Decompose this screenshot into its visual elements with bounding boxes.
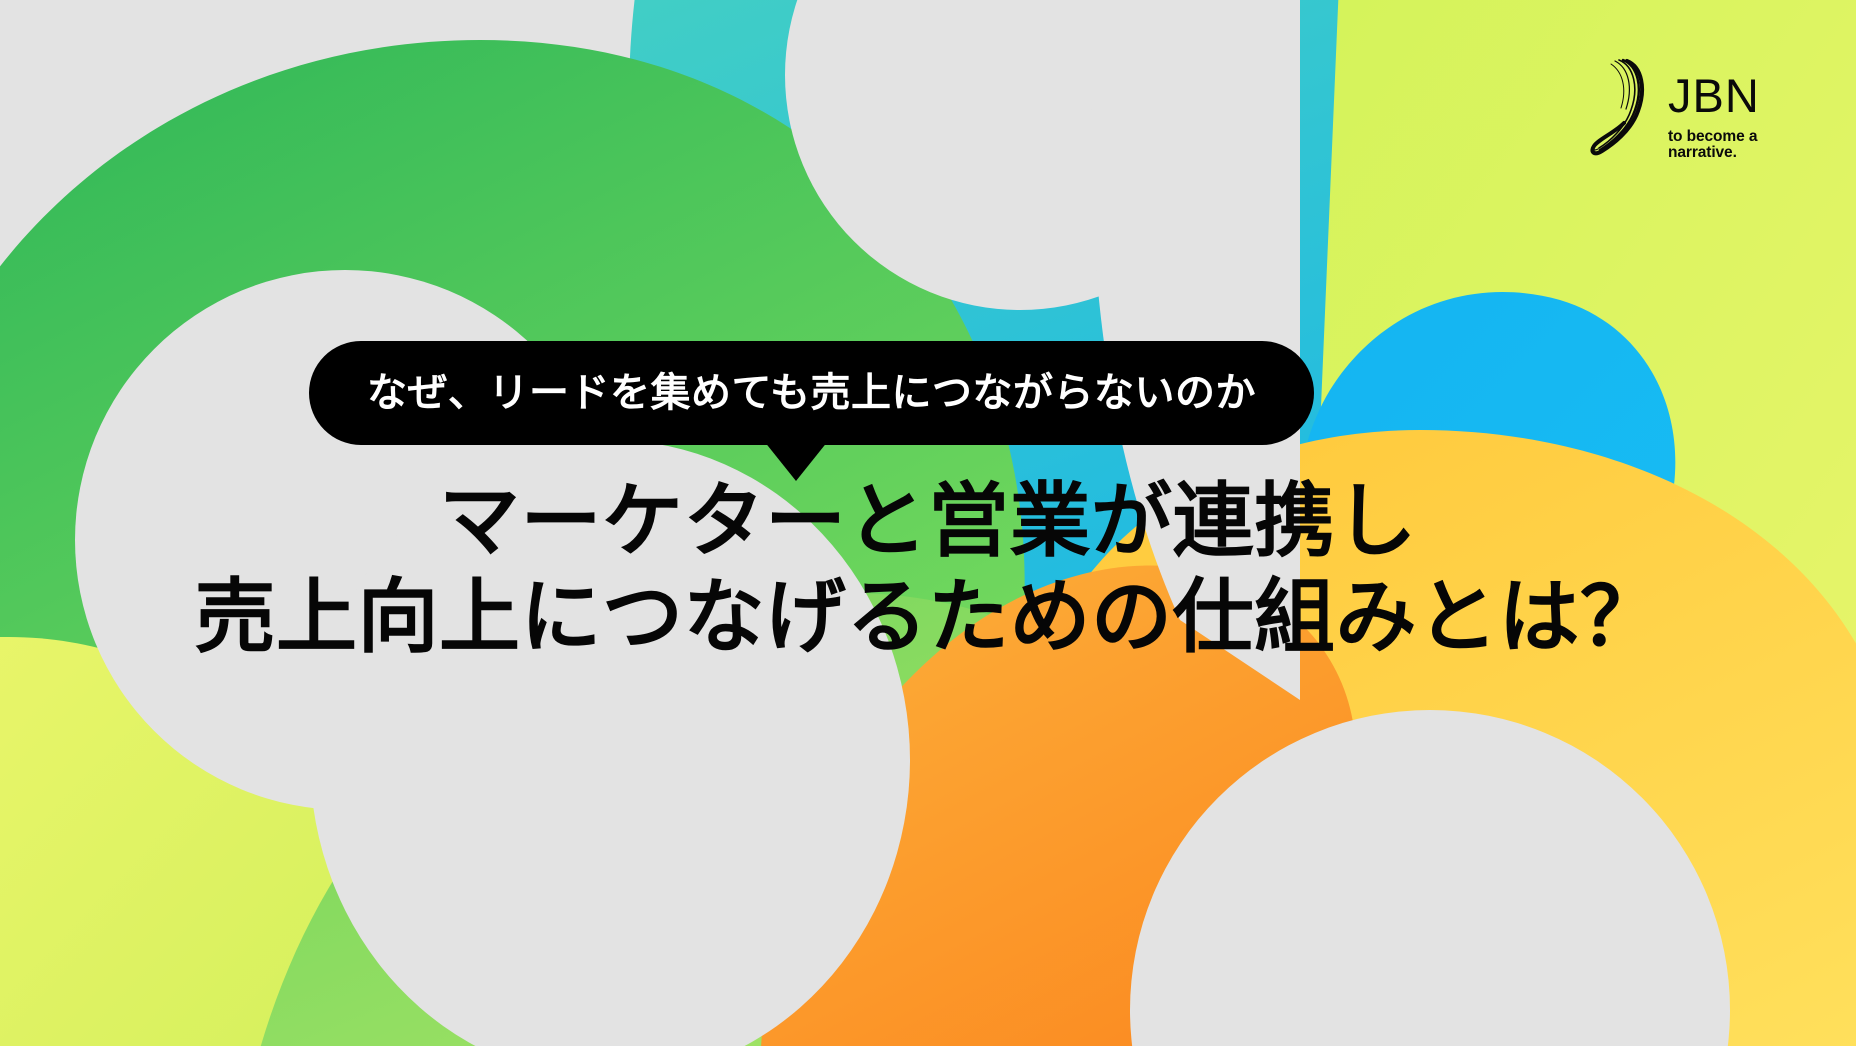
headline-line-1: マーケターと営業が連携し	[0, 474, 1856, 570]
jbn-logo[interactable]: JBN to become a narrative.	[1586, 52, 1816, 162]
logo-wordmark: JBN	[1668, 72, 1760, 119]
headline-line-2: 売上向上につなげるための仕組みとは？	[0, 570, 1856, 666]
jbn-loop-mark-icon	[1586, 53, 1658, 161]
eyebrow-badge: なぜ、リードを集めても売上につながらないのか	[309, 341, 1314, 445]
logo-text-block: JBN to become a narrative.	[1668, 54, 1816, 160]
banner-canvas: JBN to become a narrative. なぜ、リードを集めても売上…	[0, 0, 1856, 1046]
logo-tagline: to become a narrative.	[1668, 129, 1816, 160]
headline: マーケターと営業が連携し 売上向上につなげるための仕組みとは？	[0, 474, 1856, 667]
eyebrow-label: なぜ、リードを集めても売上につながらないのか	[367, 373, 1256, 413]
